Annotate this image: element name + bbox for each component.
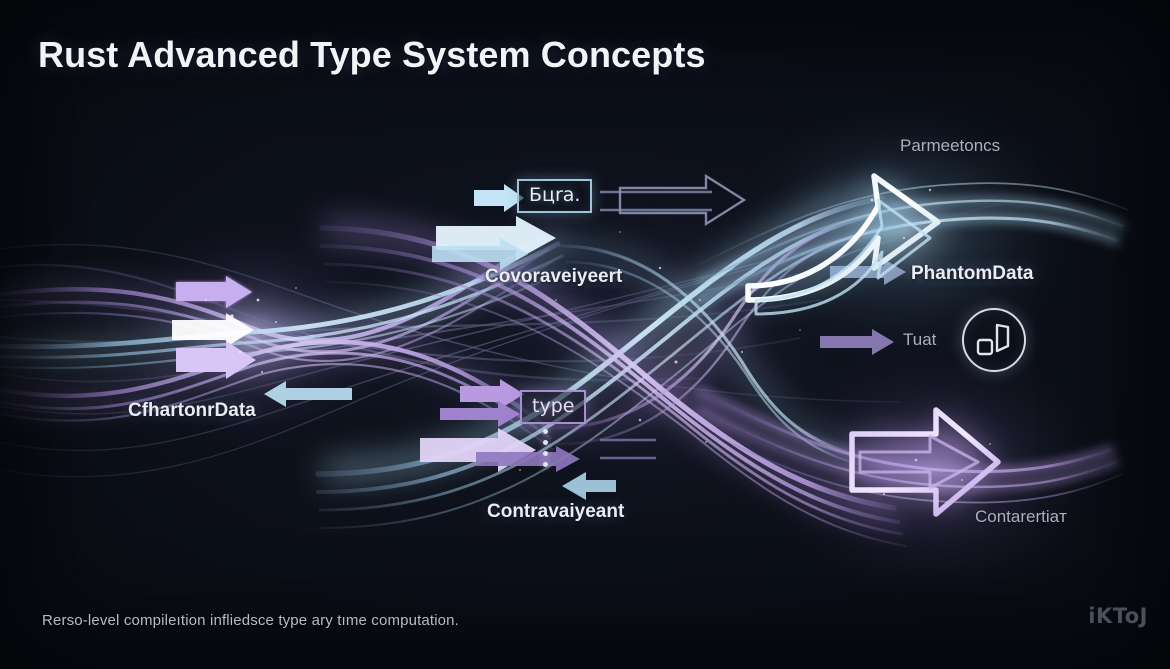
cube-tag-icon — [964, 310, 1024, 370]
label-phantomdata-left[interactable]: CfhartonrData — [128, 400, 256, 422]
page-title: Rust Advanced Type System Concepts — [38, 34, 706, 76]
variance-box-upper[interactable]: Бцrа. — [517, 179, 592, 213]
footer-caption: Rerso-level compileıtion infliedsce type… — [42, 612, 459, 629]
label-contravariant-right[interactable]: Contarertiaт — [975, 507, 1067, 527]
watermark-logo: iKToJ — [1088, 604, 1148, 628]
label-contravariant[interactable]: Contravaiyeant — [487, 501, 624, 523]
ellipsis-dots — [543, 429, 548, 467]
diagram-canvas: Rust Advanced Type System Concepts Бцrа.… — [0, 0, 1170, 669]
label-trait[interactable]: Tuat — [903, 330, 936, 350]
label-covariant[interactable]: Covoraveiyeert — [485, 266, 622, 288]
label-parameters[interactable]: Parmeetoncs — [900, 136, 1000, 156]
label-phantomdata-right[interactable]: PhantomData — [911, 263, 1033, 285]
variance-box-lower[interactable]: type — [520, 390, 586, 424]
trait-badge[interactable] — [962, 308, 1026, 372]
